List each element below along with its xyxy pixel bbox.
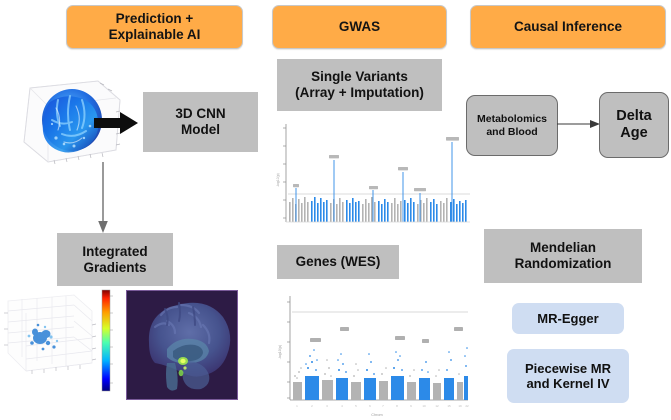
thin-down-arrow-icon xyxy=(94,162,112,235)
arrow-metabolomics-to-delta-age xyxy=(557,117,601,131)
3d-scatter-plot-icon xyxy=(2,291,98,393)
box-metabolomics-and-blood[interactable]: Metabolomics and Blood xyxy=(466,95,558,156)
box-3d-cnn-model[interactable]: 3D CNN Model xyxy=(143,92,258,152)
svg-text:15: 15 xyxy=(447,404,451,408)
jet-colorbar-icon xyxy=(99,288,119,393)
saliency-3d-scatter-figure xyxy=(2,291,98,393)
svg-text:Chrom: Chrom xyxy=(371,413,382,417)
svg-text:-log10(p): -log10(p) xyxy=(276,173,280,187)
header-gwas[interactable]: GWAS xyxy=(272,5,447,49)
box-genes-wes[interactable]: Genes (WES) xyxy=(277,245,399,279)
manhattan-genes-wes-figure: -log10(p) Chrom xyxy=(272,290,472,418)
header-causal-inference[interactable]: Causal Inference xyxy=(470,5,666,49)
sagittal-brain-heatmap-figure xyxy=(126,290,238,400)
box-delta-age[interactable]: Delta Age xyxy=(599,92,669,158)
jet-colorbar-figure xyxy=(99,288,119,393)
svg-text:-log10(p): -log10(p) xyxy=(278,345,282,359)
header-prediction-explainable-ai[interactable]: Prediction + Explainable AI xyxy=(66,5,243,49)
thick-right-arrow-icon xyxy=(92,110,140,136)
box-integrated-gradients[interactable]: Integrated Gradients xyxy=(57,233,173,286)
manhattan-plot-genes-wes: -log10(p) Chrom xyxy=(272,290,472,418)
arrow-volume-to-model xyxy=(92,110,140,136)
manhattan-single-variants-figure: -log10(p) xyxy=(272,118,472,232)
box-single-variants[interactable]: Single Variants (Array + Imputation) xyxy=(277,59,442,111)
svg-text:22: 22 xyxy=(465,404,469,408)
box-mr-egger[interactable]: MR-Egger xyxy=(512,303,624,334)
manhattan-plot-single-variants: -log10(p) xyxy=(272,118,472,232)
arrow-model-to-integrated-gradients xyxy=(94,162,112,235)
box-mendelian-randomization[interactable]: Mendelian Randomization xyxy=(484,229,642,283)
svg-text:19: 19 xyxy=(458,404,462,408)
svg-text:10: 10 xyxy=(422,404,426,408)
svg-text:12: 12 xyxy=(435,404,439,408)
thin-right-arrow-icon xyxy=(557,117,601,131)
sagittal-brain-heatmap-icon xyxy=(127,291,237,399)
diagram-canvas: Prediction + Explainable AI GWAS Causal … xyxy=(0,0,671,420)
box-piecewise-mr-kernel-iv[interactable]: Piecewise MR and Kernel IV xyxy=(507,349,629,403)
